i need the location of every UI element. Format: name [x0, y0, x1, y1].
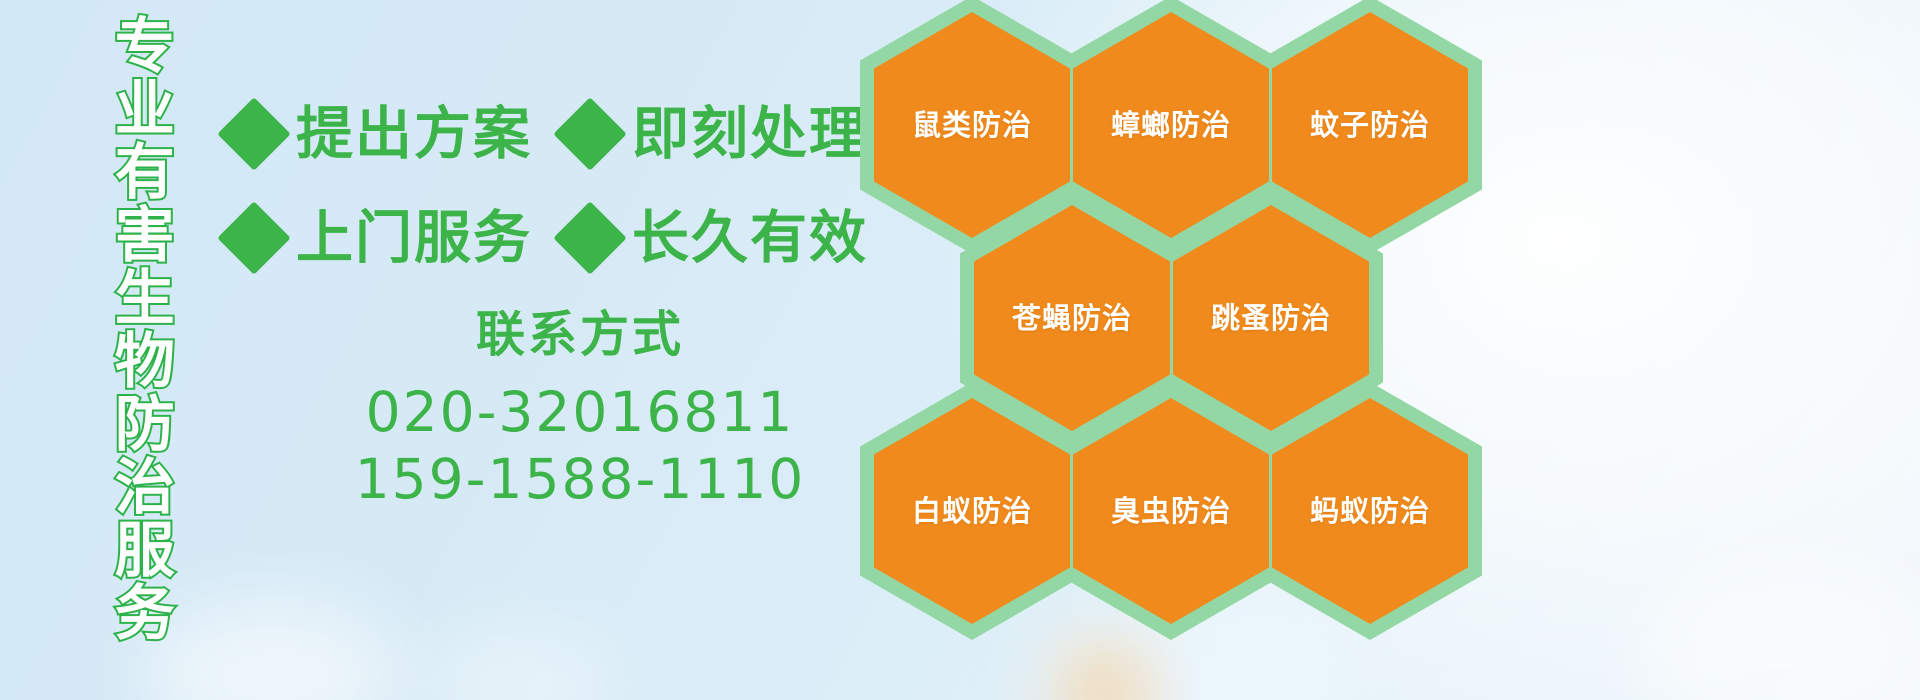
feature-label: 长久有效	[632, 210, 868, 267]
service-hex-label: 鼠类防治	[912, 111, 1032, 140]
diamond-bullet-icon	[217, 97, 291, 171]
feature-label: 即刻处理	[632, 106, 868, 163]
service-honeycomb: 鼠类防治 蟑螂防治 蚊子防治 苍蝇防治 跳蚤防治 白蚁防治 臭虫防治 蚂蚁防治	[860, 0, 1920, 700]
feature-label: 上门服务	[296, 210, 532, 267]
contact-title: 联系方式	[300, 310, 860, 359]
contact-block: 联系方式 020-32016811 159-1588-1110	[300, 310, 860, 513]
feature-label: 提出方案	[296, 106, 532, 163]
phone-number-mobile[interactable]: 159-1588-1110	[300, 446, 860, 513]
feature-list: 提出方案 即刻处理 上门服务 长久有效	[228, 82, 868, 290]
service-hex-label: 蚂蚁防治	[1310, 497, 1430, 526]
background-blur-blob	[140, 600, 400, 700]
service-hex-label: 蚊子防治	[1310, 111, 1430, 140]
vertical-headline: 专业有害生物防治服务	[108, 14, 169, 644]
service-hex-label: 蟑螂防治	[1111, 111, 1231, 140]
feature-row: 上门服务 长久有效	[228, 186, 868, 290]
diamond-bullet-icon	[553, 201, 627, 275]
service-hex-label: 跳蚤防治	[1211, 304, 1331, 333]
background-blur-blob	[420, 625, 620, 700]
service-hex-label: 白蚁防治	[912, 497, 1032, 526]
pest-control-banner: 专业有害生物防治服务 提出方案 即刻处理 上门服务 长久有效 联系方式 020-…	[0, 0, 1920, 700]
service-hex-label: 臭虫防治	[1111, 497, 1231, 526]
feature-row: 提出方案 即刻处理	[228, 82, 868, 186]
service-hex-label: 苍蝇防治	[1012, 304, 1132, 333]
phone-number-landline[interactable]: 020-32016811	[300, 379, 860, 446]
diamond-bullet-icon	[553, 97, 627, 171]
diamond-bullet-icon	[217, 201, 291, 275]
